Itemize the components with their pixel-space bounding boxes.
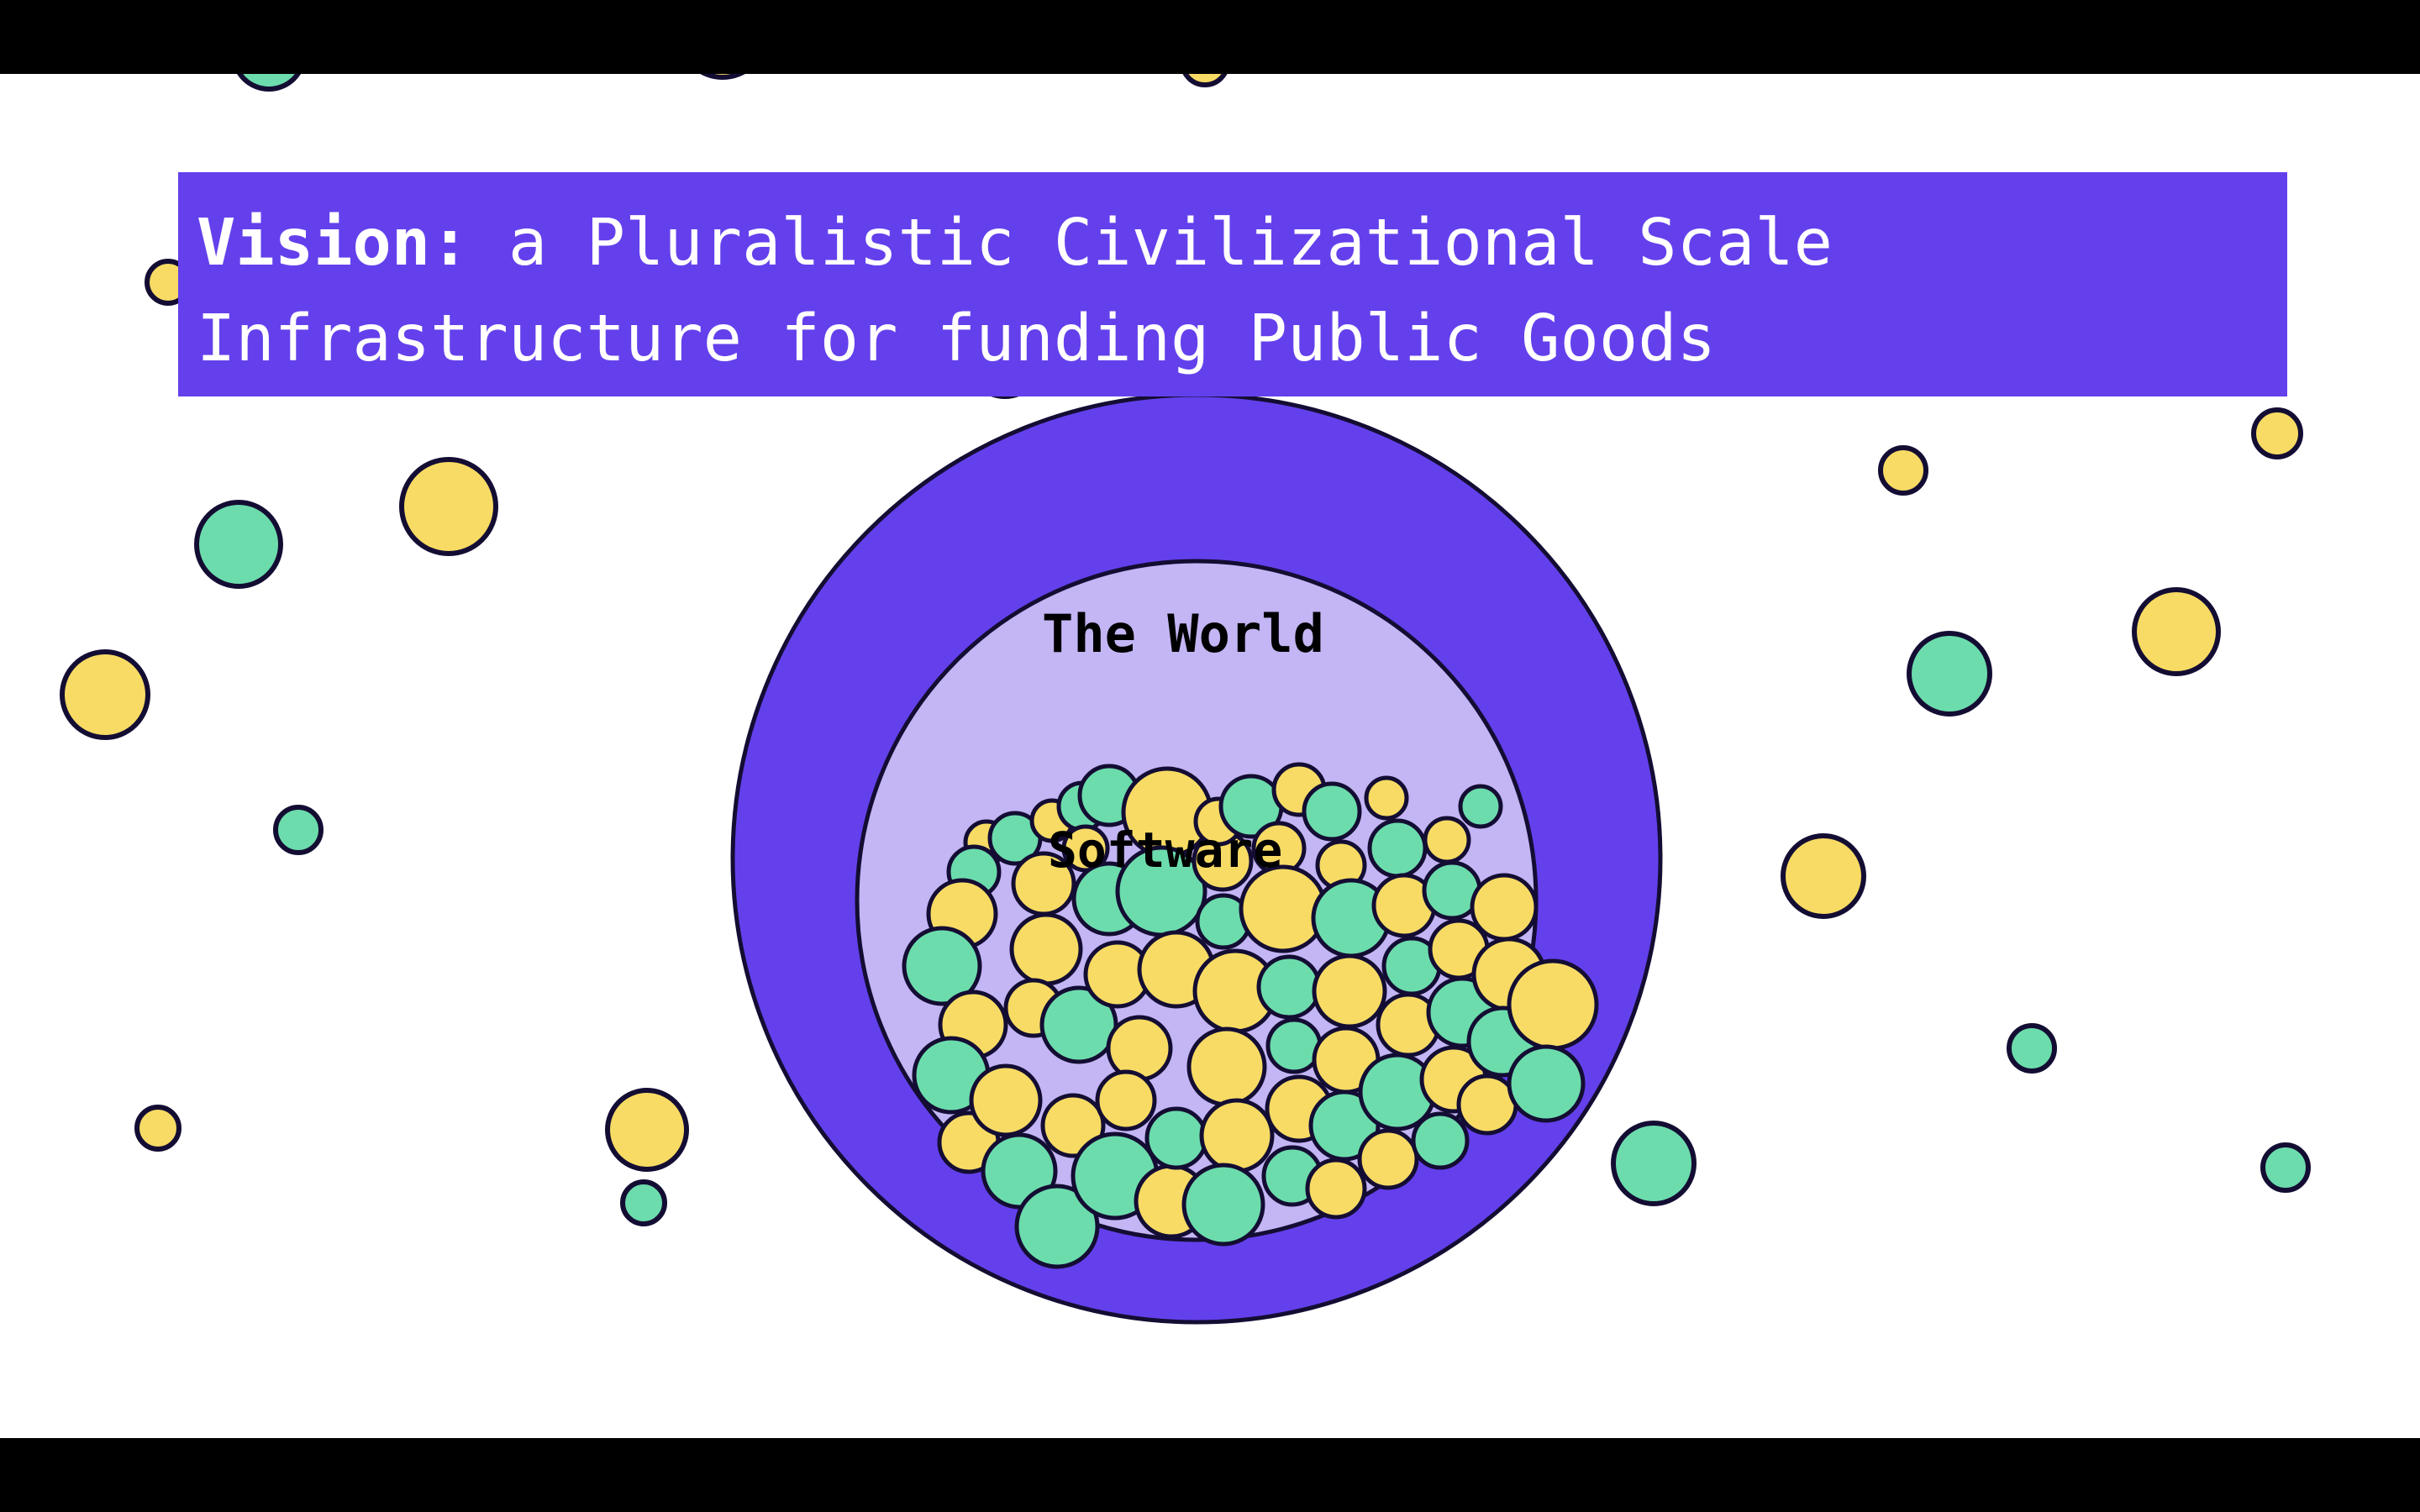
bubble xyxy=(1202,1100,1272,1171)
bubble xyxy=(1268,1020,1320,1072)
bubble xyxy=(1509,1047,1583,1121)
bubble xyxy=(1314,956,1385,1026)
bubble xyxy=(971,1066,1040,1135)
bubble xyxy=(1472,875,1536,939)
letterbox-top xyxy=(0,0,2420,74)
bubble xyxy=(1184,1165,1263,1244)
bubble xyxy=(1509,961,1597,1048)
bubble xyxy=(1460,786,1501,827)
bubble xyxy=(1366,778,1407,818)
label-the-world: The World xyxy=(1042,603,1324,664)
bubble xyxy=(1097,1072,1155,1129)
bubble xyxy=(1370,821,1425,876)
slide-root: The World Software Vision: a Pluralistic… xyxy=(0,0,2420,1512)
title-banner: Vision: a Pluralistic Civilizational Sca… xyxy=(178,172,2287,396)
bubble xyxy=(1425,818,1469,862)
bubble xyxy=(1413,1114,1467,1168)
bubble xyxy=(1147,1109,1206,1168)
letterbox-bottom xyxy=(0,1438,2420,1512)
bubble xyxy=(1304,784,1360,839)
bubble xyxy=(1012,915,1081,984)
title-lead: Vision: xyxy=(197,206,470,281)
label-software: Software xyxy=(1048,822,1282,879)
bubble xyxy=(1360,1131,1417,1188)
bubble xyxy=(1189,1029,1265,1105)
bubble xyxy=(1108,1017,1171,1079)
page-title: Vision: a Pluralistic Civilizational Sca… xyxy=(197,196,2287,387)
slide-canvas: The World Software Vision: a Pluralistic… xyxy=(0,74,2420,1438)
bubble xyxy=(1307,1160,1365,1217)
bubble xyxy=(1259,957,1319,1017)
